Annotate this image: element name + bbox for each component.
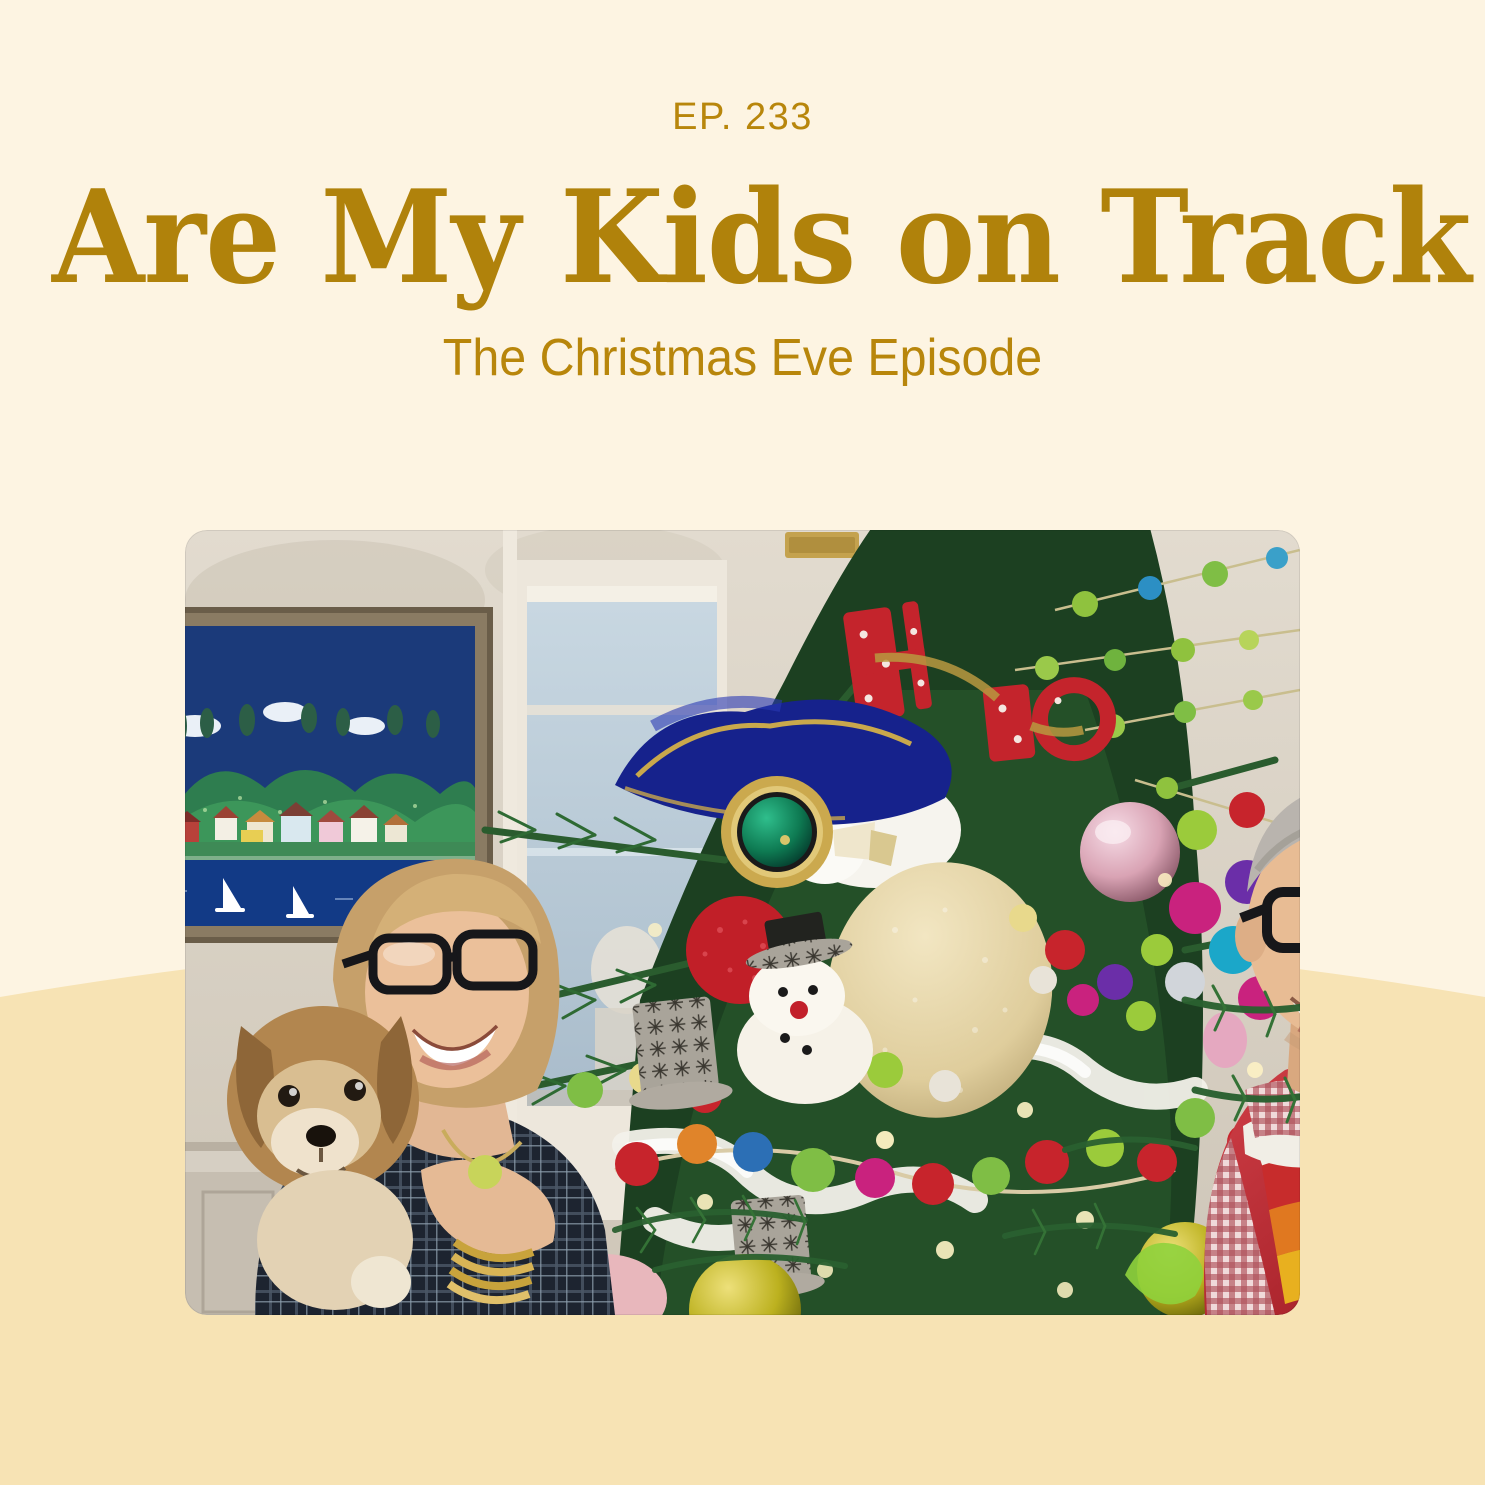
medallion-jewel <box>742 797 812 867</box>
episode-photo <box>185 530 1300 1315</box>
photo-illustration <box>185 530 1300 1315</box>
wall-plaque <box>785 532 859 558</box>
episode-number: EP. 233 <box>0 98 1485 136</box>
page-title: Are My Kids on Track <box>52 174 1433 302</box>
poster-canvas: EP. 233 Are My Kids on Track The Christm… <box>0 0 1485 1485</box>
poster-header: EP. 233 Are My Kids on Track The Christm… <box>0 0 1485 384</box>
episode-subtitle: The Christmas Eve Episode <box>52 332 1433 384</box>
